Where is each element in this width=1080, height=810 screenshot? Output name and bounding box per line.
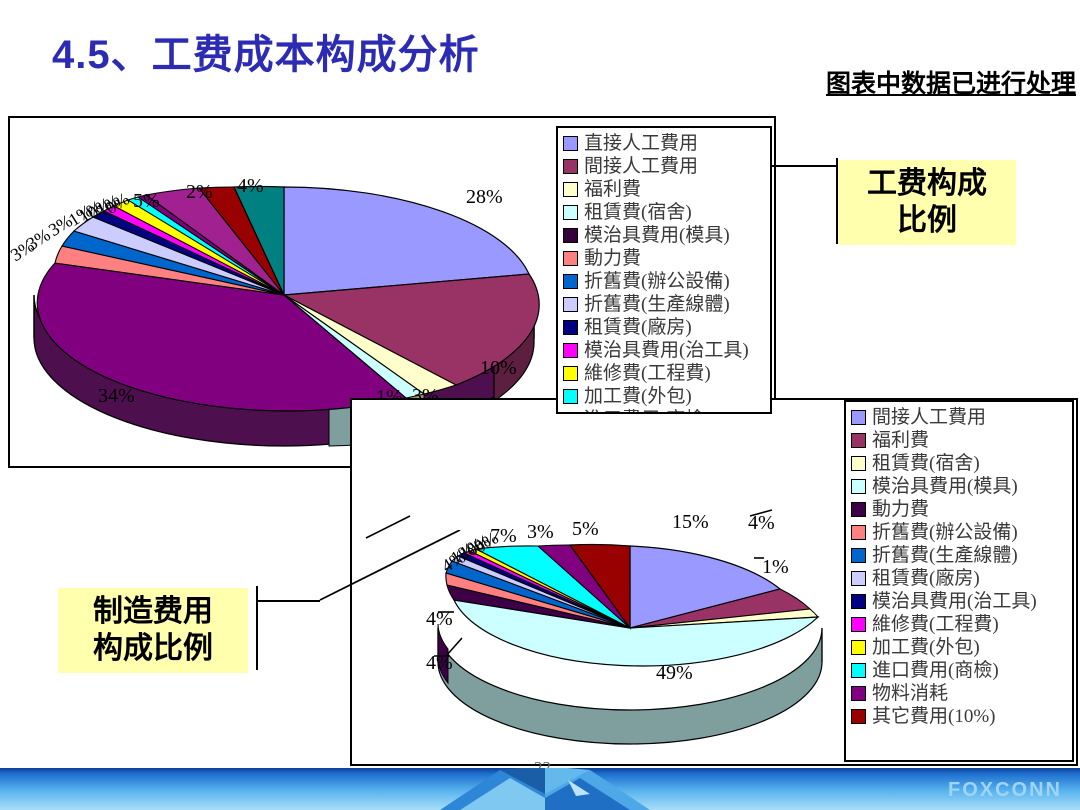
legend-zhizao-item[interactable]: 福利費: [851, 429, 1066, 452]
legend-gongfei-item[interactable]: 間接人工費用: [563, 155, 764, 178]
callout-gongfei-line-1: 工费构成: [852, 166, 1002, 203]
legend-zhizao-item[interactable]: 模治具費用(模具): [851, 475, 1066, 498]
legend-zhizao-label: 維修費(工程費): [872, 615, 999, 634]
legend-zhizao-label: 其它費用(10%): [872, 707, 995, 726]
legend-gongfei-swatch-icon: [563, 320, 578, 335]
legend-zhizao-label: 間接人工費用: [872, 408, 986, 427]
legend-gongfei-item[interactable]: 福利費: [563, 178, 764, 201]
pie-zhizao-data-label: 4%: [426, 652, 453, 675]
legend-zhizao-item[interactable]: 其它費用(10%): [851, 705, 1066, 728]
legend-gongfei-swatch-icon: [563, 136, 578, 151]
legend-gongfei-item[interactable]: 進口費用(商檢): [563, 408, 764, 414]
legend-zhizao-swatch-icon: [851, 617, 866, 632]
pie-zhizao-data-label: 4%: [426, 608, 453, 631]
legend-zhizao-item[interactable]: 租賃費(宿舍): [851, 452, 1066, 475]
legend-zhizao-swatch-icon: [851, 709, 866, 724]
legend-gongfei-swatch-icon: [563, 366, 578, 381]
legend-zhizao-item[interactable]: 進口費用(商檢): [851, 659, 1066, 682]
legend-zhizao-item[interactable]: 模治具費用(治工具): [851, 590, 1066, 613]
legend-gongfei-swatch-icon: [563, 228, 578, 243]
legend-gongfei-swatch-icon: [563, 182, 578, 197]
legend-gongfei-item[interactable]: 模治具費用(治工具): [563, 339, 764, 362]
legend-gongfei-label: 維修費(工程費): [584, 364, 711, 383]
legend-gongfei-item[interactable]: 租賃費(廠房): [563, 316, 764, 339]
legend-gongfei-label: 動力費: [584, 249, 641, 268]
callout-zhizao-line-2: 构成比例: [72, 631, 234, 668]
legend-zhizao-label: 進口費用(商檢): [872, 661, 999, 680]
legend-gongfei-swatch-icon: [563, 274, 578, 289]
pie-zhizao-data-label: 1%: [762, 556, 789, 579]
callout-gongfei: 工费构成比例: [838, 160, 1016, 245]
legend-gongfei-label: 間接人工費用: [584, 157, 698, 176]
legend-gongfei: 直接人工費用間接人工費用福利費租賃費(宿舍)模治具費用(模具)動力費折舊費(辦公…: [556, 126, 772, 414]
legend-zhizao-item[interactable]: 折舊費(辦公設備): [851, 521, 1066, 544]
pie-chart-zhizao-svg: [430, 525, 830, 715]
pie-chart-zhizao: [430, 525, 830, 715]
legend-gongfei-item[interactable]: 維修費(工程費): [563, 362, 764, 385]
page-title: 4.5、工费成本构成分析: [52, 22, 480, 80]
legend-gongfei-swatch-icon: [563, 159, 578, 174]
legend-gongfei-item[interactable]: 折舊費(生產線體): [563, 293, 764, 316]
pie-gongfei-data-label: 5%: [133, 190, 160, 213]
pie-gongfei-data-label: 4%: [237, 175, 264, 198]
pie-zhizao-data-label: 3%: [527, 521, 554, 544]
legend-gongfei-item[interactable]: 動力費: [563, 247, 764, 270]
legend-zhizao-item[interactable]: 物料消耗: [851, 682, 1066, 705]
legend-gongfei-label: 租賃費(廠房): [584, 318, 692, 337]
legend-zhizao-item[interactable]: 間接人工費用: [851, 406, 1066, 429]
legend-gongfei-swatch-icon: [563, 412, 578, 414]
legend-zhizao-swatch-icon: [851, 525, 866, 540]
legend-gongfei-label: 折舊費(生產線體): [584, 295, 730, 314]
legend-zhizao-label: 加工費(外包): [872, 638, 980, 657]
legend-zhizao-item[interactable]: 維修費(工程費): [851, 613, 1066, 636]
legend-gongfei-label: 加工費(外包): [584, 387, 692, 406]
callout-zhizao: 制造费用构成比例: [58, 588, 248, 673]
legend-zhizao-swatch-icon: [851, 502, 866, 517]
pie-zhizao-data-label: 4%: [748, 512, 775, 535]
callout-top-leader-horizontal: [770, 165, 838, 167]
legend-zhizao-swatch-icon: [851, 456, 866, 471]
legend-zhizao-label: 模治具費用(治工具): [872, 592, 1037, 611]
legend-zhizao-label: 租賃費(宿舍): [872, 454, 980, 473]
legend-zhizao-label: 折舊費(生產線體): [872, 546, 1018, 565]
pie-zhizao-data-label: 15%: [672, 511, 709, 534]
pie-gongfei-data-label: 28%: [466, 186, 503, 209]
legend-gongfei-swatch-icon: [563, 205, 578, 220]
foxconn-logo-icon: [440, 768, 650, 810]
legend-zhizao-label: 折舊費(辦公設備): [872, 523, 1018, 542]
legend-zhizao-label: 福利費: [872, 431, 929, 450]
legend-gongfei-label: 模治具費用(模具): [584, 226, 730, 245]
legend-gongfei-item[interactable]: 直接人工費用: [563, 132, 764, 155]
legend-gongfei-item[interactable]: 模治具費用(模具): [563, 224, 764, 247]
legend-zhizao-label: 動力費: [872, 500, 929, 519]
legend-zhizao-swatch-icon: [851, 479, 866, 494]
legend-gongfei-swatch-icon: [563, 297, 578, 312]
legend-zhizao-swatch-icon: [851, 686, 866, 701]
legend-gongfei-label: 折舊費(辦公設備): [584, 272, 730, 291]
legend-gongfei-label: 直接人工費用: [584, 134, 698, 153]
legend-zhizao-label: 物料消耗: [872, 684, 948, 703]
legend-zhizao-swatch-icon: [851, 663, 866, 678]
legend-zhizao-item[interactable]: 動力費: [851, 498, 1066, 521]
legend-zhizao: 間接人工費用福利費租賃費(宿舍)模治具費用(模具)動力費折舊費(辦公設備)折舊費…: [844, 400, 1074, 762]
legend-gongfei-swatch-icon: [563, 389, 578, 404]
callout-bottom-leader-horizontal: [256, 600, 320, 602]
legend-zhizao-item[interactable]: 租賃費(廠房): [851, 567, 1066, 590]
legend-zhizao-swatch-icon: [851, 640, 866, 655]
legend-zhizao-swatch-icon: [851, 433, 866, 448]
pie-gongfei-data-label: 10%: [480, 357, 517, 380]
legend-gongfei-label: 租賃費(宿舍): [584, 203, 692, 222]
legend-gongfei-item[interactable]: 折舊費(辦公設備): [563, 270, 764, 293]
pie-zhizao-data-label: 7%: [490, 525, 517, 548]
processed-data-note: 图表中数据已进行处理: [826, 64, 1076, 100]
pie-gongfei-data-label: 2%: [186, 181, 213, 204]
legend-gongfei-label: 福利費: [584, 180, 641, 199]
callout-zhizao-line-1: 制造费用: [72, 594, 234, 631]
legend-gongfei-swatch-icon: [563, 343, 578, 358]
pie-zhizao-data-label: 5%: [572, 518, 599, 541]
legend-gongfei-label: 進口費用(商檢): [584, 410, 711, 414]
callout-gongfei-line-2: 比例: [852, 203, 1002, 240]
legend-gongfei-label: 模治具費用(治工具): [584, 341, 749, 360]
pie-gongfei-data-label: 34%: [98, 385, 135, 408]
legend-gongfei-item[interactable]: 租賃費(宿舍): [563, 201, 764, 224]
pie-zhizao-data-label: 49%: [656, 662, 693, 685]
legend-gongfei-swatch-icon: [563, 251, 578, 266]
legend-zhizao-label: 模治具費用(模具): [872, 477, 1018, 496]
legend-zhizao-item[interactable]: 折舊費(生產線體): [851, 544, 1066, 567]
legend-zhizao-swatch-icon: [851, 548, 866, 563]
footer-bar: FOXCONN: [0, 768, 1080, 810]
foxconn-wordmark: FOXCONN: [948, 779, 1062, 802]
legend-zhizao-swatch-icon: [851, 410, 866, 425]
legend-zhizao-swatch-icon: [851, 571, 866, 586]
legend-gongfei-item[interactable]: 加工費(外包): [563, 385, 764, 408]
callout-bottom-leader-vertical: [256, 586, 258, 670]
legend-zhizao-item[interactable]: 加工費(外包): [851, 636, 1066, 659]
legend-zhizao-label: 租賃費(廠房): [872, 569, 980, 588]
legend-zhizao-swatch-icon: [851, 594, 866, 609]
